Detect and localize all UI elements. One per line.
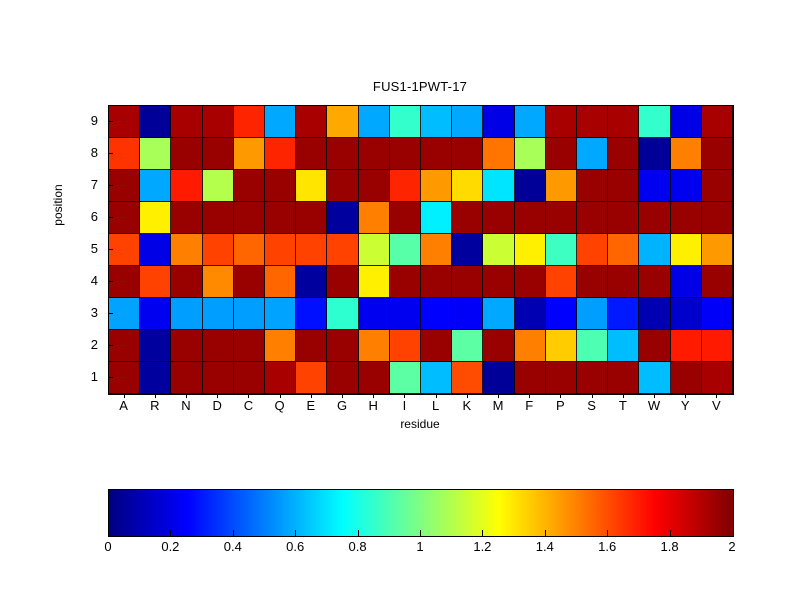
heatmap-grid bbox=[109, 106, 733, 394]
heatmap-cell bbox=[421, 298, 452, 330]
heatmap-cell bbox=[359, 106, 390, 138]
heatmap-cell bbox=[608, 298, 639, 330]
heatmap-cell bbox=[608, 234, 639, 266]
heatmap-cell bbox=[546, 202, 577, 234]
heatmap-cell bbox=[639, 234, 670, 266]
y-tick-label: 7 bbox=[66, 178, 98, 192]
heatmap-cell bbox=[140, 138, 171, 170]
heatmap-cell bbox=[234, 266, 265, 298]
heatmap-cell bbox=[702, 266, 733, 298]
heatmap-cell bbox=[671, 234, 702, 266]
heatmap-cell bbox=[296, 330, 327, 362]
heatmap-cell bbox=[265, 266, 296, 298]
x-tick-mark bbox=[716, 393, 717, 398]
heatmap-cell bbox=[702, 202, 733, 234]
heatmap-cell bbox=[390, 138, 421, 170]
heatmap-cell bbox=[702, 362, 733, 394]
heatmap-cell bbox=[109, 298, 140, 330]
x-tick-mark bbox=[373, 393, 374, 398]
colorbar-tick-label: 0.2 bbox=[147, 539, 193, 554]
x-tick-label: F bbox=[513, 398, 545, 413]
x-tick-label: N bbox=[170, 398, 202, 413]
heatmap-axes bbox=[108, 105, 734, 395]
heatmap-cell bbox=[452, 202, 483, 234]
heatmap-cell bbox=[327, 234, 358, 266]
heatmap-cell bbox=[109, 170, 140, 202]
heatmap-cell bbox=[577, 298, 608, 330]
heatmap-cell bbox=[546, 298, 577, 330]
heatmap-cell bbox=[671, 106, 702, 138]
heatmap-cell bbox=[546, 106, 577, 138]
heatmap-cell bbox=[359, 138, 390, 170]
heatmap-cell bbox=[390, 362, 421, 394]
y-tick-mark bbox=[108, 281, 113, 282]
heatmap-cell bbox=[515, 330, 546, 362]
heatmap-cell bbox=[546, 330, 577, 362]
x-tick-label: M bbox=[482, 398, 514, 413]
x-tick-mark bbox=[560, 393, 561, 398]
heatmap-cell bbox=[140, 330, 171, 362]
heatmap-cell bbox=[265, 234, 296, 266]
heatmap-cell bbox=[234, 234, 265, 266]
heatmap-cell bbox=[327, 298, 358, 330]
x-tick-label: R bbox=[139, 398, 171, 413]
x-tick-mark bbox=[342, 393, 343, 398]
heatmap-cell bbox=[421, 170, 452, 202]
heatmap-cell bbox=[203, 298, 234, 330]
heatmap-cell bbox=[452, 170, 483, 202]
heatmap-cell bbox=[421, 330, 452, 362]
heatmap-cell bbox=[359, 330, 390, 362]
heatmap-cell bbox=[452, 330, 483, 362]
heatmap-cell bbox=[296, 298, 327, 330]
matlab-figure: FUS1-1PWT-17 position 123456789 ARNDCQEG… bbox=[0, 0, 800, 600]
y-tick-label: 9 bbox=[66, 114, 98, 128]
heatmap-cell bbox=[483, 138, 514, 170]
heatmap-cell bbox=[452, 138, 483, 170]
heatmap-cell bbox=[515, 138, 546, 170]
heatmap-cell bbox=[327, 138, 358, 170]
heatmap-cell bbox=[390, 298, 421, 330]
y-tick-label: 2 bbox=[66, 338, 98, 352]
x-tick-mark bbox=[217, 393, 218, 398]
x-tick-label: Y bbox=[669, 398, 701, 413]
heatmap-cell bbox=[483, 202, 514, 234]
x-tick-label: D bbox=[201, 398, 233, 413]
colorbar-tick-mark bbox=[233, 530, 234, 536]
heatmap-cell bbox=[515, 106, 546, 138]
x-tick-label: A bbox=[108, 398, 140, 413]
heatmap-cell bbox=[109, 266, 140, 298]
heatmap-cell bbox=[608, 266, 639, 298]
heatmap-cell bbox=[483, 170, 514, 202]
heatmap-cell bbox=[234, 202, 265, 234]
heatmap-cell bbox=[171, 138, 202, 170]
heatmap-cell bbox=[327, 170, 358, 202]
colorbar-tick-label: 0 bbox=[85, 539, 131, 554]
x-tick-label: V bbox=[700, 398, 732, 413]
heatmap-cell bbox=[671, 266, 702, 298]
y-tick-mark bbox=[108, 153, 113, 154]
heatmap-cell bbox=[577, 170, 608, 202]
x-tick-mark bbox=[404, 393, 405, 398]
heatmap-cell bbox=[671, 298, 702, 330]
heatmap-cell bbox=[515, 298, 546, 330]
y-tick-mark bbox=[108, 217, 113, 218]
x-tick-mark bbox=[654, 393, 655, 398]
heatmap-cell bbox=[265, 138, 296, 170]
heatmap-cell bbox=[577, 266, 608, 298]
heatmap-cell bbox=[702, 298, 733, 330]
x-tick-label: W bbox=[638, 398, 670, 413]
heatmap-cell bbox=[234, 170, 265, 202]
heatmap-cell bbox=[608, 330, 639, 362]
x-tick-mark bbox=[529, 393, 530, 398]
y-axis-label: position bbox=[51, 145, 65, 265]
colorbar-tick-mark bbox=[607, 530, 608, 536]
x-axis-label: residue bbox=[108, 417, 732, 431]
heatmap-cell bbox=[577, 202, 608, 234]
y-tick-label: 3 bbox=[66, 306, 98, 320]
heatmap-cell bbox=[452, 266, 483, 298]
heatmap-cell bbox=[515, 170, 546, 202]
heatmap-cell bbox=[421, 202, 452, 234]
heatmap-cell bbox=[577, 106, 608, 138]
heatmap-cell bbox=[171, 234, 202, 266]
heatmap-cell bbox=[421, 234, 452, 266]
heatmap-cell bbox=[203, 138, 234, 170]
colorbar-gradient bbox=[109, 490, 733, 536]
heatmap-cell bbox=[452, 106, 483, 138]
x-tick-mark bbox=[498, 393, 499, 398]
x-tick-label: C bbox=[232, 398, 264, 413]
colorbar-tick-mark bbox=[170, 530, 171, 536]
heatmap-cell bbox=[140, 106, 171, 138]
heatmap-cell bbox=[171, 362, 202, 394]
heatmap-cell bbox=[171, 330, 202, 362]
heatmap-cell bbox=[577, 138, 608, 170]
heatmap-cell bbox=[608, 138, 639, 170]
heatmap-cell bbox=[577, 234, 608, 266]
x-tick-label: E bbox=[295, 398, 327, 413]
heatmap-cell bbox=[483, 298, 514, 330]
heatmap-cell bbox=[671, 138, 702, 170]
heatmap-cell bbox=[702, 138, 733, 170]
heatmap-cell bbox=[327, 106, 358, 138]
y-tick-label: 8 bbox=[66, 146, 98, 160]
x-tick-mark bbox=[685, 393, 686, 398]
heatmap-cell bbox=[483, 362, 514, 394]
heatmap-cell bbox=[515, 234, 546, 266]
heatmap-cell bbox=[203, 170, 234, 202]
x-tick-mark bbox=[467, 393, 468, 398]
heatmap-cell bbox=[140, 362, 171, 394]
heatmap-cell bbox=[140, 266, 171, 298]
chart-title: FUS1-1PWT-17 bbox=[108, 79, 732, 94]
heatmap-cell bbox=[515, 202, 546, 234]
heatmap-cell bbox=[203, 330, 234, 362]
heatmap-cell bbox=[702, 330, 733, 362]
x-tick-label: H bbox=[357, 398, 389, 413]
heatmap-cell bbox=[327, 202, 358, 234]
heatmap-cell bbox=[109, 234, 140, 266]
y-tick-mark bbox=[108, 313, 113, 314]
heatmap-cell bbox=[390, 330, 421, 362]
heatmap-cell bbox=[296, 266, 327, 298]
x-tick-label: L bbox=[420, 398, 452, 413]
x-tick-label: S bbox=[576, 398, 608, 413]
heatmap-cell bbox=[203, 106, 234, 138]
x-tick-mark bbox=[592, 393, 593, 398]
heatmap-cell bbox=[109, 362, 140, 394]
heatmap-cell bbox=[296, 362, 327, 394]
y-tick-label: 4 bbox=[66, 274, 98, 288]
colorbar-tick-label: 0.8 bbox=[335, 539, 381, 554]
heatmap-cell bbox=[608, 106, 639, 138]
heatmap-cell bbox=[171, 298, 202, 330]
colorbar-tick-label: 1.8 bbox=[647, 539, 693, 554]
heatmap-cell bbox=[452, 234, 483, 266]
heatmap-cell bbox=[608, 202, 639, 234]
colorbar-tick-mark bbox=[295, 530, 296, 536]
heatmap-cell bbox=[140, 202, 171, 234]
heatmap-cell bbox=[390, 170, 421, 202]
heatmap-cell bbox=[483, 330, 514, 362]
y-tick-mark bbox=[108, 121, 113, 122]
heatmap-cell bbox=[234, 330, 265, 362]
heatmap-cell bbox=[296, 106, 327, 138]
heatmap-cell bbox=[577, 362, 608, 394]
heatmap-cell bbox=[359, 202, 390, 234]
heatmap-cell bbox=[546, 234, 577, 266]
x-tick-mark bbox=[124, 393, 125, 398]
heatmap-cell bbox=[452, 298, 483, 330]
heatmap-cell bbox=[296, 138, 327, 170]
colorbar-tick-label: 0.4 bbox=[210, 539, 256, 554]
heatmap-cell bbox=[203, 362, 234, 394]
heatmap-cell bbox=[671, 170, 702, 202]
x-tick-mark bbox=[155, 393, 156, 398]
y-tick-label: 1 bbox=[66, 370, 98, 384]
x-tick-mark bbox=[280, 393, 281, 398]
heatmap-cell bbox=[702, 106, 733, 138]
heatmap-cell bbox=[483, 106, 514, 138]
heatmap-cell bbox=[390, 266, 421, 298]
heatmap-cell bbox=[639, 106, 670, 138]
heatmap-cell bbox=[639, 202, 670, 234]
heatmap-cell bbox=[421, 106, 452, 138]
heatmap-cell bbox=[702, 170, 733, 202]
heatmap-cell bbox=[359, 170, 390, 202]
x-tick-label: Q bbox=[264, 398, 296, 413]
heatmap-cell bbox=[702, 234, 733, 266]
heatmap-cell bbox=[171, 170, 202, 202]
heatmap-cell bbox=[483, 234, 514, 266]
heatmap-cell bbox=[265, 330, 296, 362]
heatmap-cell bbox=[390, 202, 421, 234]
x-tick-label: T bbox=[607, 398, 639, 413]
colorbar bbox=[108, 489, 734, 537]
y-tick-label: 6 bbox=[66, 210, 98, 224]
heatmap-cell bbox=[577, 330, 608, 362]
heatmap-cell bbox=[452, 362, 483, 394]
colorbar-tick-label: 1.6 bbox=[584, 539, 630, 554]
y-tick-mark bbox=[108, 249, 113, 250]
heatmap-cell bbox=[296, 234, 327, 266]
colorbar-tick-label: 0.6 bbox=[272, 539, 318, 554]
heatmap-cell bbox=[421, 266, 452, 298]
heatmap-cell bbox=[546, 266, 577, 298]
heatmap-cell bbox=[265, 170, 296, 202]
heatmap-cell bbox=[203, 202, 234, 234]
x-tick-label: P bbox=[544, 398, 576, 413]
heatmap-cell bbox=[109, 138, 140, 170]
heatmap-cell bbox=[515, 266, 546, 298]
heatmap-cell bbox=[359, 266, 390, 298]
x-tick-mark bbox=[436, 393, 437, 398]
heatmap-cell bbox=[515, 362, 546, 394]
heatmap-cell bbox=[296, 202, 327, 234]
heatmap-cell bbox=[608, 362, 639, 394]
colorbar-tick-label: 1 bbox=[397, 539, 443, 554]
heatmap-cell bbox=[109, 202, 140, 234]
heatmap-cell bbox=[265, 362, 296, 394]
heatmap-cell bbox=[421, 362, 452, 394]
heatmap-cell bbox=[359, 298, 390, 330]
heatmap-cell bbox=[203, 266, 234, 298]
colorbar-tick-mark bbox=[358, 530, 359, 536]
heatmap-cell bbox=[109, 106, 140, 138]
heatmap-cell bbox=[171, 106, 202, 138]
x-tick-mark bbox=[311, 393, 312, 398]
heatmap-cell bbox=[546, 138, 577, 170]
colorbar-tick-label: 1.4 bbox=[522, 539, 568, 554]
heatmap-cell bbox=[327, 330, 358, 362]
heatmap-cell bbox=[140, 234, 171, 266]
y-tick-mark bbox=[108, 377, 113, 378]
heatmap-cell bbox=[296, 170, 327, 202]
heatmap-cell bbox=[140, 298, 171, 330]
heatmap-cell bbox=[639, 170, 670, 202]
y-tick-mark bbox=[108, 345, 113, 346]
heatmap-cell bbox=[265, 202, 296, 234]
heatmap-cell bbox=[639, 266, 670, 298]
heatmap-cell bbox=[234, 298, 265, 330]
x-tick-label: I bbox=[388, 398, 420, 413]
heatmap-cell bbox=[234, 106, 265, 138]
colorbar-tick-mark bbox=[545, 530, 546, 536]
heatmap-cell bbox=[546, 170, 577, 202]
heatmap-cell bbox=[109, 330, 140, 362]
heatmap-cell bbox=[359, 362, 390, 394]
heatmap-cell bbox=[171, 202, 202, 234]
x-tick-label: K bbox=[451, 398, 483, 413]
heatmap-cell bbox=[671, 330, 702, 362]
y-tick-label: 5 bbox=[66, 242, 98, 256]
colorbar-tick-mark bbox=[482, 530, 483, 536]
x-tick-label: G bbox=[326, 398, 358, 413]
x-tick-mark bbox=[248, 393, 249, 398]
heatmap-cell bbox=[390, 234, 421, 266]
heatmap-cell bbox=[265, 106, 296, 138]
heatmap-cell bbox=[265, 298, 296, 330]
heatmap-cell bbox=[639, 298, 670, 330]
heatmap-cell bbox=[608, 170, 639, 202]
heatmap-cell bbox=[483, 266, 514, 298]
heatmap-cell bbox=[546, 362, 577, 394]
colorbar-tick-label: 2 bbox=[709, 539, 755, 554]
heatmap-cell bbox=[671, 202, 702, 234]
heatmap-cell bbox=[234, 138, 265, 170]
heatmap-cell bbox=[671, 362, 702, 394]
colorbar-tick-label: 1.2 bbox=[459, 539, 505, 554]
x-tick-mark bbox=[623, 393, 624, 398]
heatmap-cell bbox=[639, 362, 670, 394]
heatmap-cell bbox=[327, 362, 358, 394]
x-tick-mark bbox=[186, 393, 187, 398]
colorbar-tick-mark bbox=[420, 530, 421, 536]
heatmap-cell bbox=[171, 266, 202, 298]
colorbar-tick-mark bbox=[670, 530, 671, 536]
heatmap-cell bbox=[327, 266, 358, 298]
heatmap-cell bbox=[639, 330, 670, 362]
heatmap-cell bbox=[390, 106, 421, 138]
heatmap-cell bbox=[234, 362, 265, 394]
heatmap-cell bbox=[359, 234, 390, 266]
heatmap-cell bbox=[639, 138, 670, 170]
heatmap-cell bbox=[203, 234, 234, 266]
heatmap-cell bbox=[421, 138, 452, 170]
y-tick-mark bbox=[108, 185, 113, 186]
heatmap-cell bbox=[140, 170, 171, 202]
